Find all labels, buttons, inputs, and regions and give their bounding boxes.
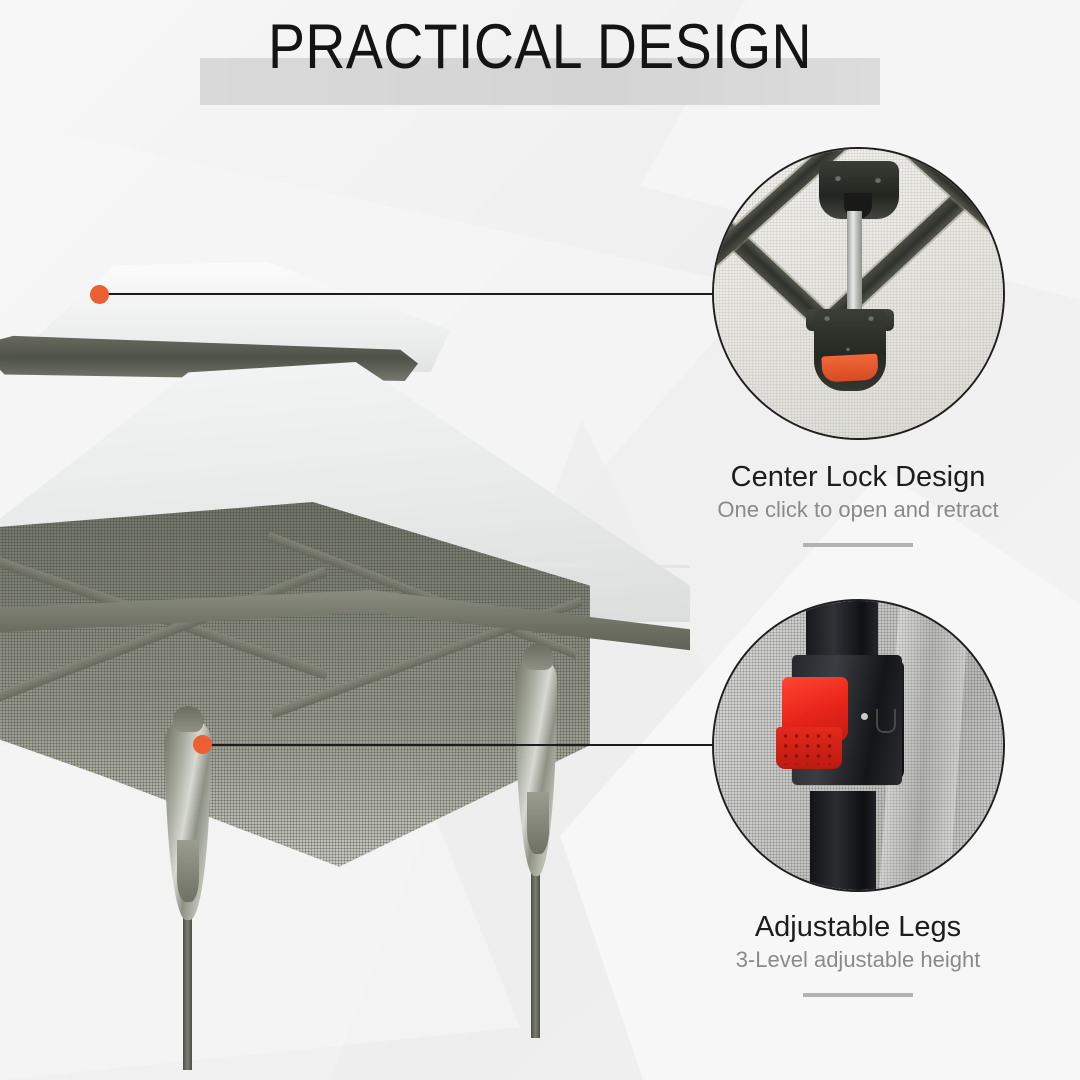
netting-tail	[177, 840, 199, 902]
caption-adjustable-legs: Adjustable Legs 3-Level adjustable heigh…	[668, 909, 1048, 997]
screw-icon	[824, 315, 830, 321]
leader-line-adjustable-legs	[202, 744, 713, 746]
center-lock-release-button	[821, 354, 878, 383]
feature-heading-center-lock: Center Lock Design	[668, 459, 1048, 495]
caption-divider	[803, 993, 913, 997]
detail-circle-center-lock	[712, 147, 1005, 440]
center-pole	[847, 211, 862, 316]
collar-hook-slot	[876, 709, 896, 733]
netting-tail	[527, 792, 549, 854]
detail-circle-adjustable-legs	[712, 599, 1005, 892]
mosquito-netting-panel	[0, 502, 590, 882]
collar-pin	[861, 713, 868, 720]
gathered-netting-curtain	[515, 658, 557, 876]
feature-subtitle-adjustable-legs: 3-Level adjustable height	[668, 945, 1048, 975]
callout-dot-center-lock	[90, 285, 109, 304]
feature-heading-adjustable-legs: Adjustable Legs	[668, 909, 1048, 945]
feature-subtitle-center-lock: One click to open and retract	[668, 495, 1048, 525]
netting-knot	[173, 706, 203, 732]
caption-center-lock: Center Lock Design One click to open and…	[668, 459, 1048, 547]
leg-post-lower	[810, 791, 876, 892]
netting-knot	[523, 644, 553, 670]
screw-icon	[835, 175, 841, 181]
screw-icon	[846, 347, 850, 351]
screw-icon	[868, 315, 874, 321]
product-photo-gazebo	[0, 240, 710, 1080]
infographic-canvas: PRACTICAL DESIGN	[0, 0, 1080, 1080]
page-title: PRACTICAL DESIGN	[65, 12, 1015, 82]
screw-icon	[875, 177, 881, 183]
callout-dot-adjustable-legs	[193, 735, 212, 754]
button-grip-texture	[780, 731, 838, 765]
leader-line-center-lock	[99, 293, 713, 295]
caption-divider	[803, 543, 913, 547]
